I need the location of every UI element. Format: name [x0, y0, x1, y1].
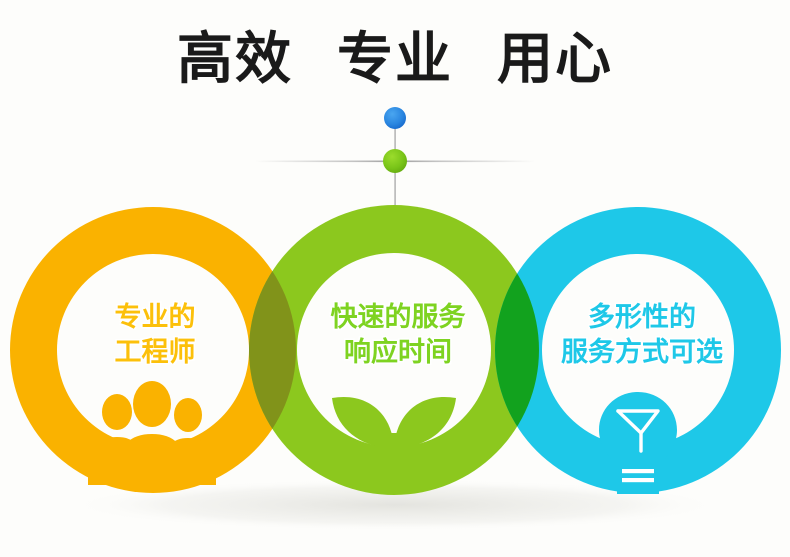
- ring-label-service-modes-line-1: 多形性的: [527, 300, 757, 335]
- poster-canvas: 高效专业用心: [0, 0, 790, 557]
- ring-label-response-time-line-2: 响应时间: [290, 335, 506, 370]
- venn-rings-graphic: [0, 0, 790, 557]
- ring-label-service-modes-line-2: 服务方式可选: [527, 335, 757, 370]
- ring-label-response-time-line-1: 快速的服务: [290, 300, 506, 335]
- ring-label-service-modes: 多形性的 服务方式可选: [527, 300, 757, 369]
- ring-label-response-time: 快速的服务 响应时间: [290, 300, 506, 369]
- ring-label-engineers-line-1: 专业的: [48, 300, 262, 335]
- ring-label-engineers-line-2: 工程师: [48, 335, 262, 370]
- ring-label-engineers: 专业的 工程师: [48, 300, 262, 369]
